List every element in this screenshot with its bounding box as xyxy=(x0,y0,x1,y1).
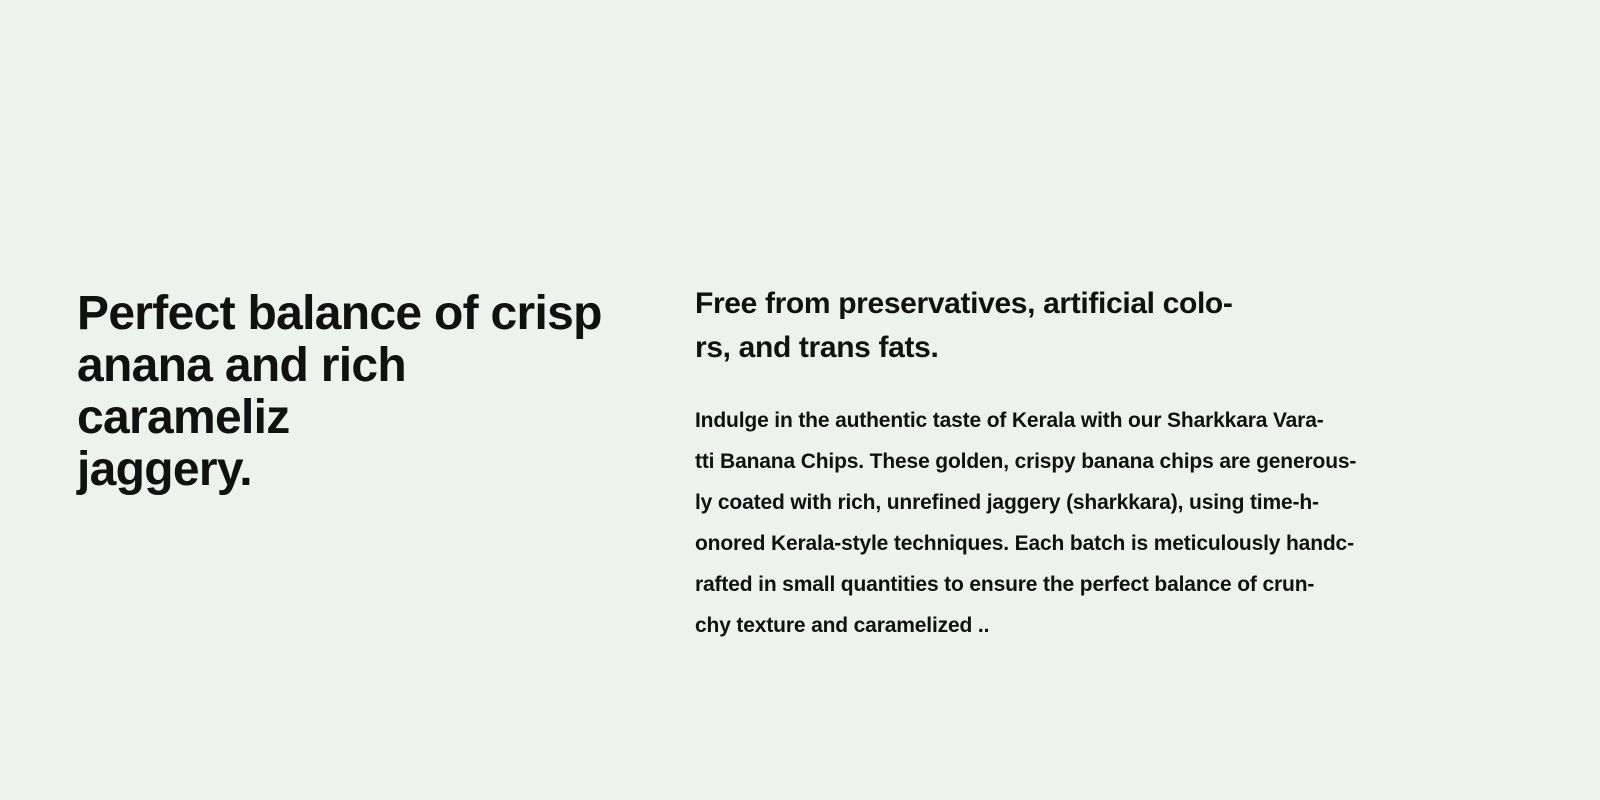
product-description-page: Perfect balance of crisp anana and rich … xyxy=(0,0,1600,800)
secondary-headline: Free from preservatives, artificial colo… xyxy=(695,282,1485,370)
product-description-paragraph: Indulge in the authentic taste of Kerala… xyxy=(695,400,1485,646)
left-content-column: Perfect balance of crisp anana and rich … xyxy=(77,288,622,496)
right-content-column: Free from preservatives, artificial colo… xyxy=(695,282,1485,646)
primary-headline: Perfect balance of crisp anana and rich … xyxy=(77,288,622,496)
